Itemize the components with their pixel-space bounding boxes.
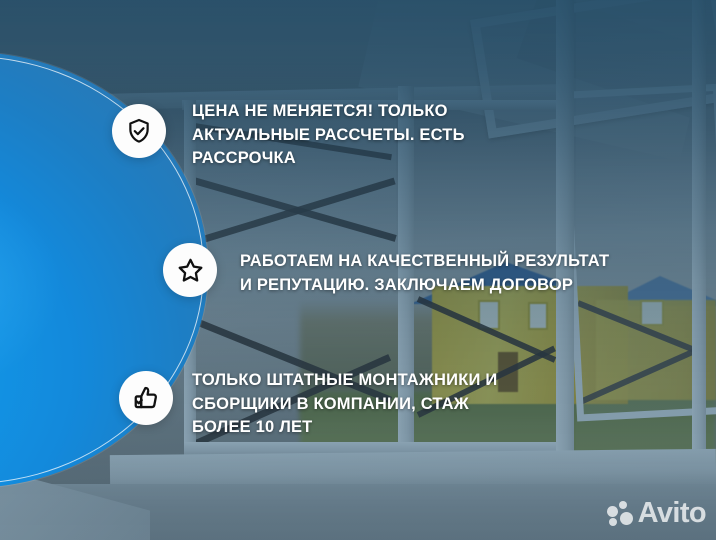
feature-text-3: ТОЛЬКО ШТАТНЫЕ МОНТАЖНИКИ И СБОРЩИКИ В К… (192, 369, 592, 440)
avito-wordmark: Avito (638, 499, 706, 528)
feature-text-1: ЦЕНА НЕ МЕНЯЕТСЯ! ТОЛЬКО АКТУАЛЬНЫЕ РАСС… (192, 100, 592, 171)
feature-icon-bubble-1 (112, 104, 166, 158)
feature-icon-bubble-3 (119, 371, 173, 425)
feature-text-2: РАБОТАЕМ НА КАЧЕСТВЕННЫЙ РЕЗУЛЬТАТ И РЕП… (240, 250, 670, 297)
promo-image: ЦЕНА НЕ МЕНЯЕТСЯ! ТОЛЬКО АКТУАЛЬНЫЕ РАСС… (0, 0, 716, 540)
thumbs-up-icon (132, 384, 161, 413)
avito-watermark: Avito (607, 499, 706, 528)
feature-icon-bubble-2 (163, 243, 217, 297)
star-icon (176, 256, 205, 285)
avito-dots-logo (607, 501, 633, 527)
shield-check-icon (125, 117, 153, 145)
